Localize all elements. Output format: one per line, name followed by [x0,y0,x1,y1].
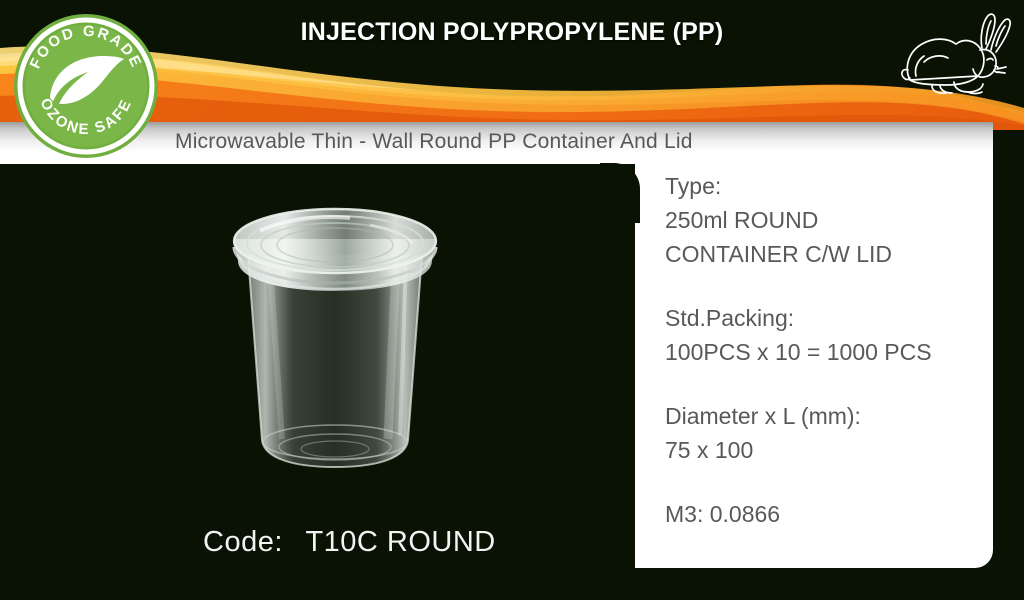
type-value-line-2: CONTAINER C/W LID [665,237,985,271]
subtitle-text: Microwavable Thin - Wall Round PP Contai… [175,130,693,154]
food-grade-badge: FOOD GRADE OZONE SAFE [12,12,160,160]
info-panel: Type: 250ml ROUND CONTAINER C/W LID Std.… [635,163,993,568]
panel-corner-notch [600,163,640,223]
dimension-label: Diameter x L (mm): [665,399,985,433]
rabbit-icon [894,6,1012,106]
product-code: Code: T10C ROUND [203,526,496,559]
dimension-value: 75 x 100 [665,433,985,467]
code-label: Code: [203,526,283,558]
product-image [200,195,470,495]
spacer [665,467,985,497]
code-value: T10C ROUND [305,526,495,558]
spacer [665,369,985,399]
m3-value: M3: 0.0866 [665,497,985,531]
pp-container-illustration [200,195,470,495]
product-spec-sheet: Microwavable Thin - Wall Round PP Contai… [0,0,1024,600]
type-label: Type: [665,169,985,203]
spacer [665,271,985,301]
type-value-line-1: 250ml ROUND [665,203,985,237]
packing-label: Std.Packing: [665,301,985,335]
packing-value: 100PCS x 10 = 1000 PCS [665,335,985,369]
